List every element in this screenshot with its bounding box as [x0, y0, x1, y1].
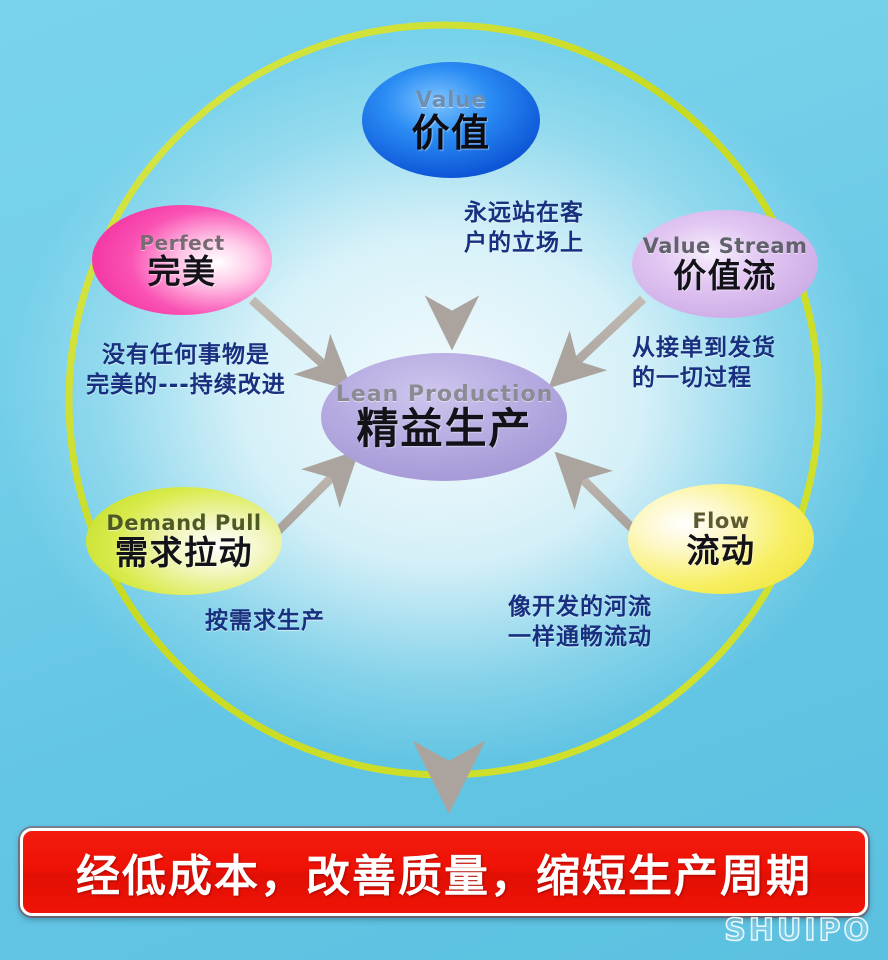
- node-flow[interactable]: Flow 流动: [628, 484, 814, 594]
- arrow-flow-to-center: [562, 459, 634, 530]
- lean-production-diagram: Value 价值 Value Stream 价值流 Flow 流动 Demand…: [0, 0, 888, 960]
- node-value-stream[interactable]: Value Stream 价值流: [632, 210, 818, 318]
- node-value-cn: 价值: [411, 114, 490, 152]
- node-demand-pull-cn: 需求拉动: [115, 536, 253, 569]
- node-value[interactable]: Value 价值: [362, 62, 540, 179]
- annotation-flow: 像开发的河流 一样通畅流动: [480, 592, 680, 653]
- result-banner-text: 经低成本，改善质量，缩短生产周期: [76, 840, 812, 904]
- node-flow-cn: 流动: [687, 534, 756, 567]
- annotation-perfect: 没有任何事物是 完美的---持续改进: [60, 340, 312, 401]
- node-perfect[interactable]: Perfect 完美: [92, 205, 272, 315]
- node-value-en: Value: [415, 90, 486, 112]
- node-demand-pull[interactable]: Demand Pull 需求拉动: [86, 487, 282, 595]
- arrow-group: [252, 186, 643, 800]
- annotation-demand-pull: 按需求生产: [150, 606, 380, 636]
- arrow-stream-to-center: [556, 299, 643, 381]
- node-value-stream-cn: 价值流: [673, 259, 777, 292]
- node-perfect-cn: 完美: [148, 255, 217, 288]
- node-demand-pull-en: Demand Pull: [106, 513, 261, 534]
- result-banner: 经低成本，改善质量，缩短生产周期: [20, 828, 868, 916]
- node-lean-production[interactable]: Lean Production 精益生产: [322, 353, 567, 481]
- node-lean-production-cn: 精益生产: [356, 408, 532, 450]
- node-lean-production-en: Lean Production: [336, 384, 553, 406]
- node-flow-en: Flow: [692, 511, 749, 532]
- node-value-stream-en: Value Stream: [643, 236, 808, 257]
- annotation-value-stream: 从接单到发货 的一切过程: [632, 333, 822, 394]
- node-perfect-en: Perfect: [139, 233, 224, 253]
- annotation-value: 永远站在客 户的立场上: [464, 198, 624, 259]
- watermark: SHUIPO: [724, 913, 872, 948]
